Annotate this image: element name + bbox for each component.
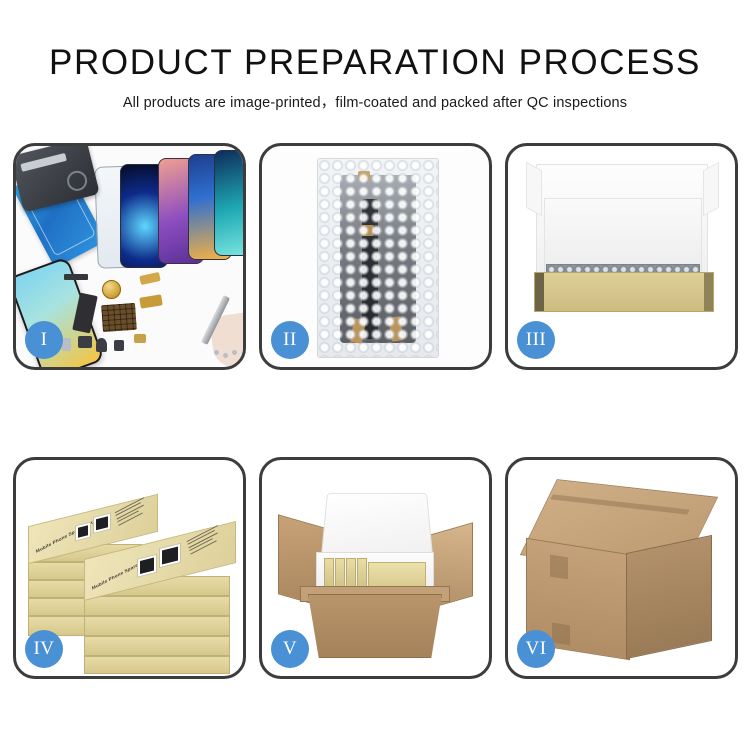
logic-board-part xyxy=(101,303,137,332)
step-badge-2: II xyxy=(271,321,309,359)
box-lid-side-left xyxy=(526,162,542,217)
box-layer-r3 xyxy=(84,616,230,636)
page-title: PRODUCT PREPARATION PROCESS xyxy=(0,44,750,82)
step-panel-2[interactable]: II xyxy=(259,143,492,370)
step-badge-6: VI xyxy=(517,630,555,668)
foam-box-lid xyxy=(321,493,434,559)
bubble-wrap-bag xyxy=(317,158,439,358)
step-panel-6[interactable]: VI xyxy=(505,457,738,679)
small-component-4 xyxy=(62,338,71,351)
bubble-texture xyxy=(318,159,438,357)
box-window-front-1 xyxy=(137,554,157,578)
small-component-3 xyxy=(114,340,124,351)
page-subtitle: All products are image-printed，film-coat… xyxy=(0,91,750,112)
small-component-5 xyxy=(134,334,146,343)
process-grid: I II III xyxy=(13,143,739,679)
step-panel-3[interactable]: III xyxy=(505,143,738,370)
box-window-front-2 xyxy=(159,543,181,568)
step-panel-4[interactable]: Mobile Phone Spare Parts Mobile Phone Sp… xyxy=(13,457,246,679)
step-panel-5[interactable]: V xyxy=(259,457,492,679)
connector-part-b xyxy=(139,272,160,285)
step-panel-1[interactable]: I xyxy=(13,143,246,370)
carton-tape-tab-bottom xyxy=(552,623,570,646)
small-component-2 xyxy=(96,338,107,352)
kraft-box-base xyxy=(534,272,714,312)
small-component-1 xyxy=(78,336,92,348)
phone-teal-display xyxy=(214,150,243,256)
box-layer-r1 xyxy=(84,656,230,674)
box-spec-lines-back xyxy=(115,495,154,532)
carton-tape-tab-top xyxy=(550,555,568,580)
box-lid-side-right xyxy=(703,162,719,217)
screws-group xyxy=(214,350,240,360)
step-badge-5: V xyxy=(271,630,309,668)
box-window-back-1 xyxy=(75,521,91,541)
foam-sheet xyxy=(544,198,702,274)
step-badge-1: I xyxy=(25,321,63,359)
box-window-back-2 xyxy=(93,513,111,534)
step-badge-3: III xyxy=(517,321,555,359)
carton-side-panel xyxy=(626,535,712,659)
step-badge-4: IV xyxy=(25,630,63,668)
vibration-motor-part xyxy=(102,280,121,299)
box-layer-r2 xyxy=(84,636,230,656)
box-spec-lines-front xyxy=(187,524,226,561)
connector-part-a xyxy=(139,294,162,308)
page-header: PRODUCT PREPARATION PROCESS All products… xyxy=(0,0,750,112)
phone-back-housing xyxy=(16,146,100,213)
box-layer-r4 xyxy=(84,596,230,616)
carton-front-face xyxy=(308,594,442,658)
speaker-mesh-part xyxy=(64,274,88,280)
